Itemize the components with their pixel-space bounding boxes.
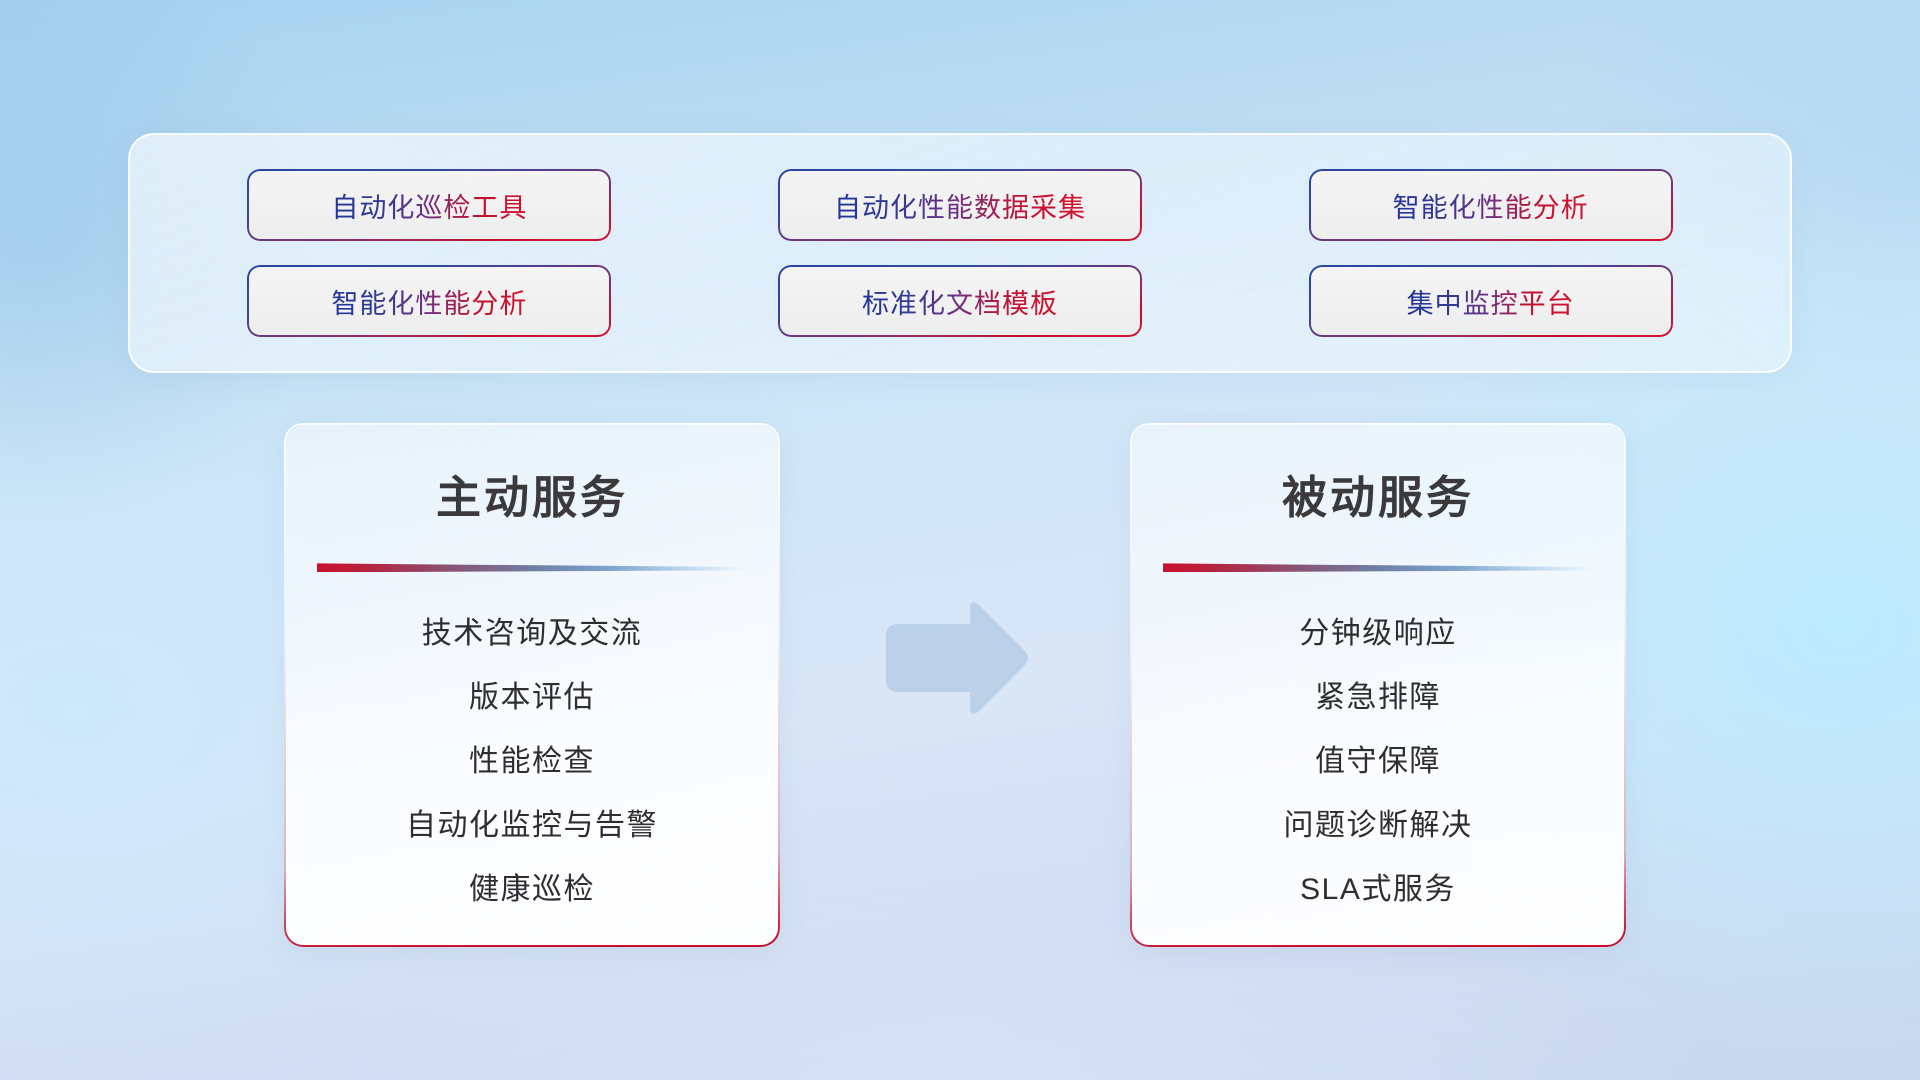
card-item-list-active: 技术咨询及交流 版本评估 性能检查 自动化监控与告警 健康巡检 <box>286 602 778 922</box>
card-accent-divider <box>1163 563 1593 572</box>
right-arrow-icon <box>872 598 1032 722</box>
capability-pill-label: 智能化性能分析 <box>1393 186 1589 225</box>
capability-pill-4[interactable]: 智能化性能分析 <box>249 267 609 335</box>
card-accent-divider <box>317 563 747 572</box>
list-item: 健康巡检 <box>286 858 778 922</box>
list-item: 分钟级响应 <box>1132 602 1624 666</box>
capability-pill-2[interactable]: 自动化性能数据采集 <box>780 171 1140 239</box>
capability-pill-label: 标准化文档模板 <box>862 282 1058 321</box>
list-item: 值守保障 <box>1132 730 1624 794</box>
list-item: 自动化监控与告警 <box>286 794 778 858</box>
service-card-passive[interactable]: 被动服务 分钟级响应 紧急排障 值守保障 问题诊断解决 SLA式服务 <box>1132 425 1624 945</box>
list-item: 性能检查 <box>286 730 778 794</box>
capability-pill-3[interactable]: 智能化性能分析 <box>1311 171 1671 239</box>
capability-pill-1[interactable]: 自动化巡检工具 <box>249 171 609 239</box>
capability-pill-6[interactable]: 集中监控平台 <box>1311 267 1671 335</box>
capability-pill-label: 自动化性能数据采集 <box>834 186 1086 225</box>
list-item: 紧急排障 <box>1132 666 1624 730</box>
capability-pill-label: 智能化性能分析 <box>331 282 527 321</box>
service-card-active[interactable]: 主动服务 技术咨询及交流 版本评估 性能检查 自动化监控与告警 健康巡检 <box>286 425 778 945</box>
card-item-list-passive: 分钟级响应 紧急排障 值守保障 问题诊断解决 SLA式服务 <box>1132 602 1624 922</box>
capability-pill-5[interactable]: 标准化文档模板 <box>780 267 1140 335</box>
capability-pill-label: 集中监控平台 <box>1407 282 1575 321</box>
card-title-passive: 被动服务 <box>1132 461 1624 526</box>
list-item: SLA式服务 <box>1132 858 1624 922</box>
capability-pill-grid: 自动化巡检工具 自动化性能数据采集 智能化性能分析 智能化性能分析 标准化文档模… <box>130 135 1790 371</box>
capability-pill-label: 自动化巡检工具 <box>331 186 527 225</box>
list-item: 问题诊断解决 <box>1132 794 1624 858</box>
list-item: 版本评估 <box>286 666 778 730</box>
card-title-active: 主动服务 <box>286 461 778 526</box>
list-item: 技术咨询及交流 <box>286 602 778 666</box>
capability-panel: 自动化巡检工具 自动化性能数据采集 智能化性能分析 智能化性能分析 标准化文档模… <box>128 133 1792 373</box>
